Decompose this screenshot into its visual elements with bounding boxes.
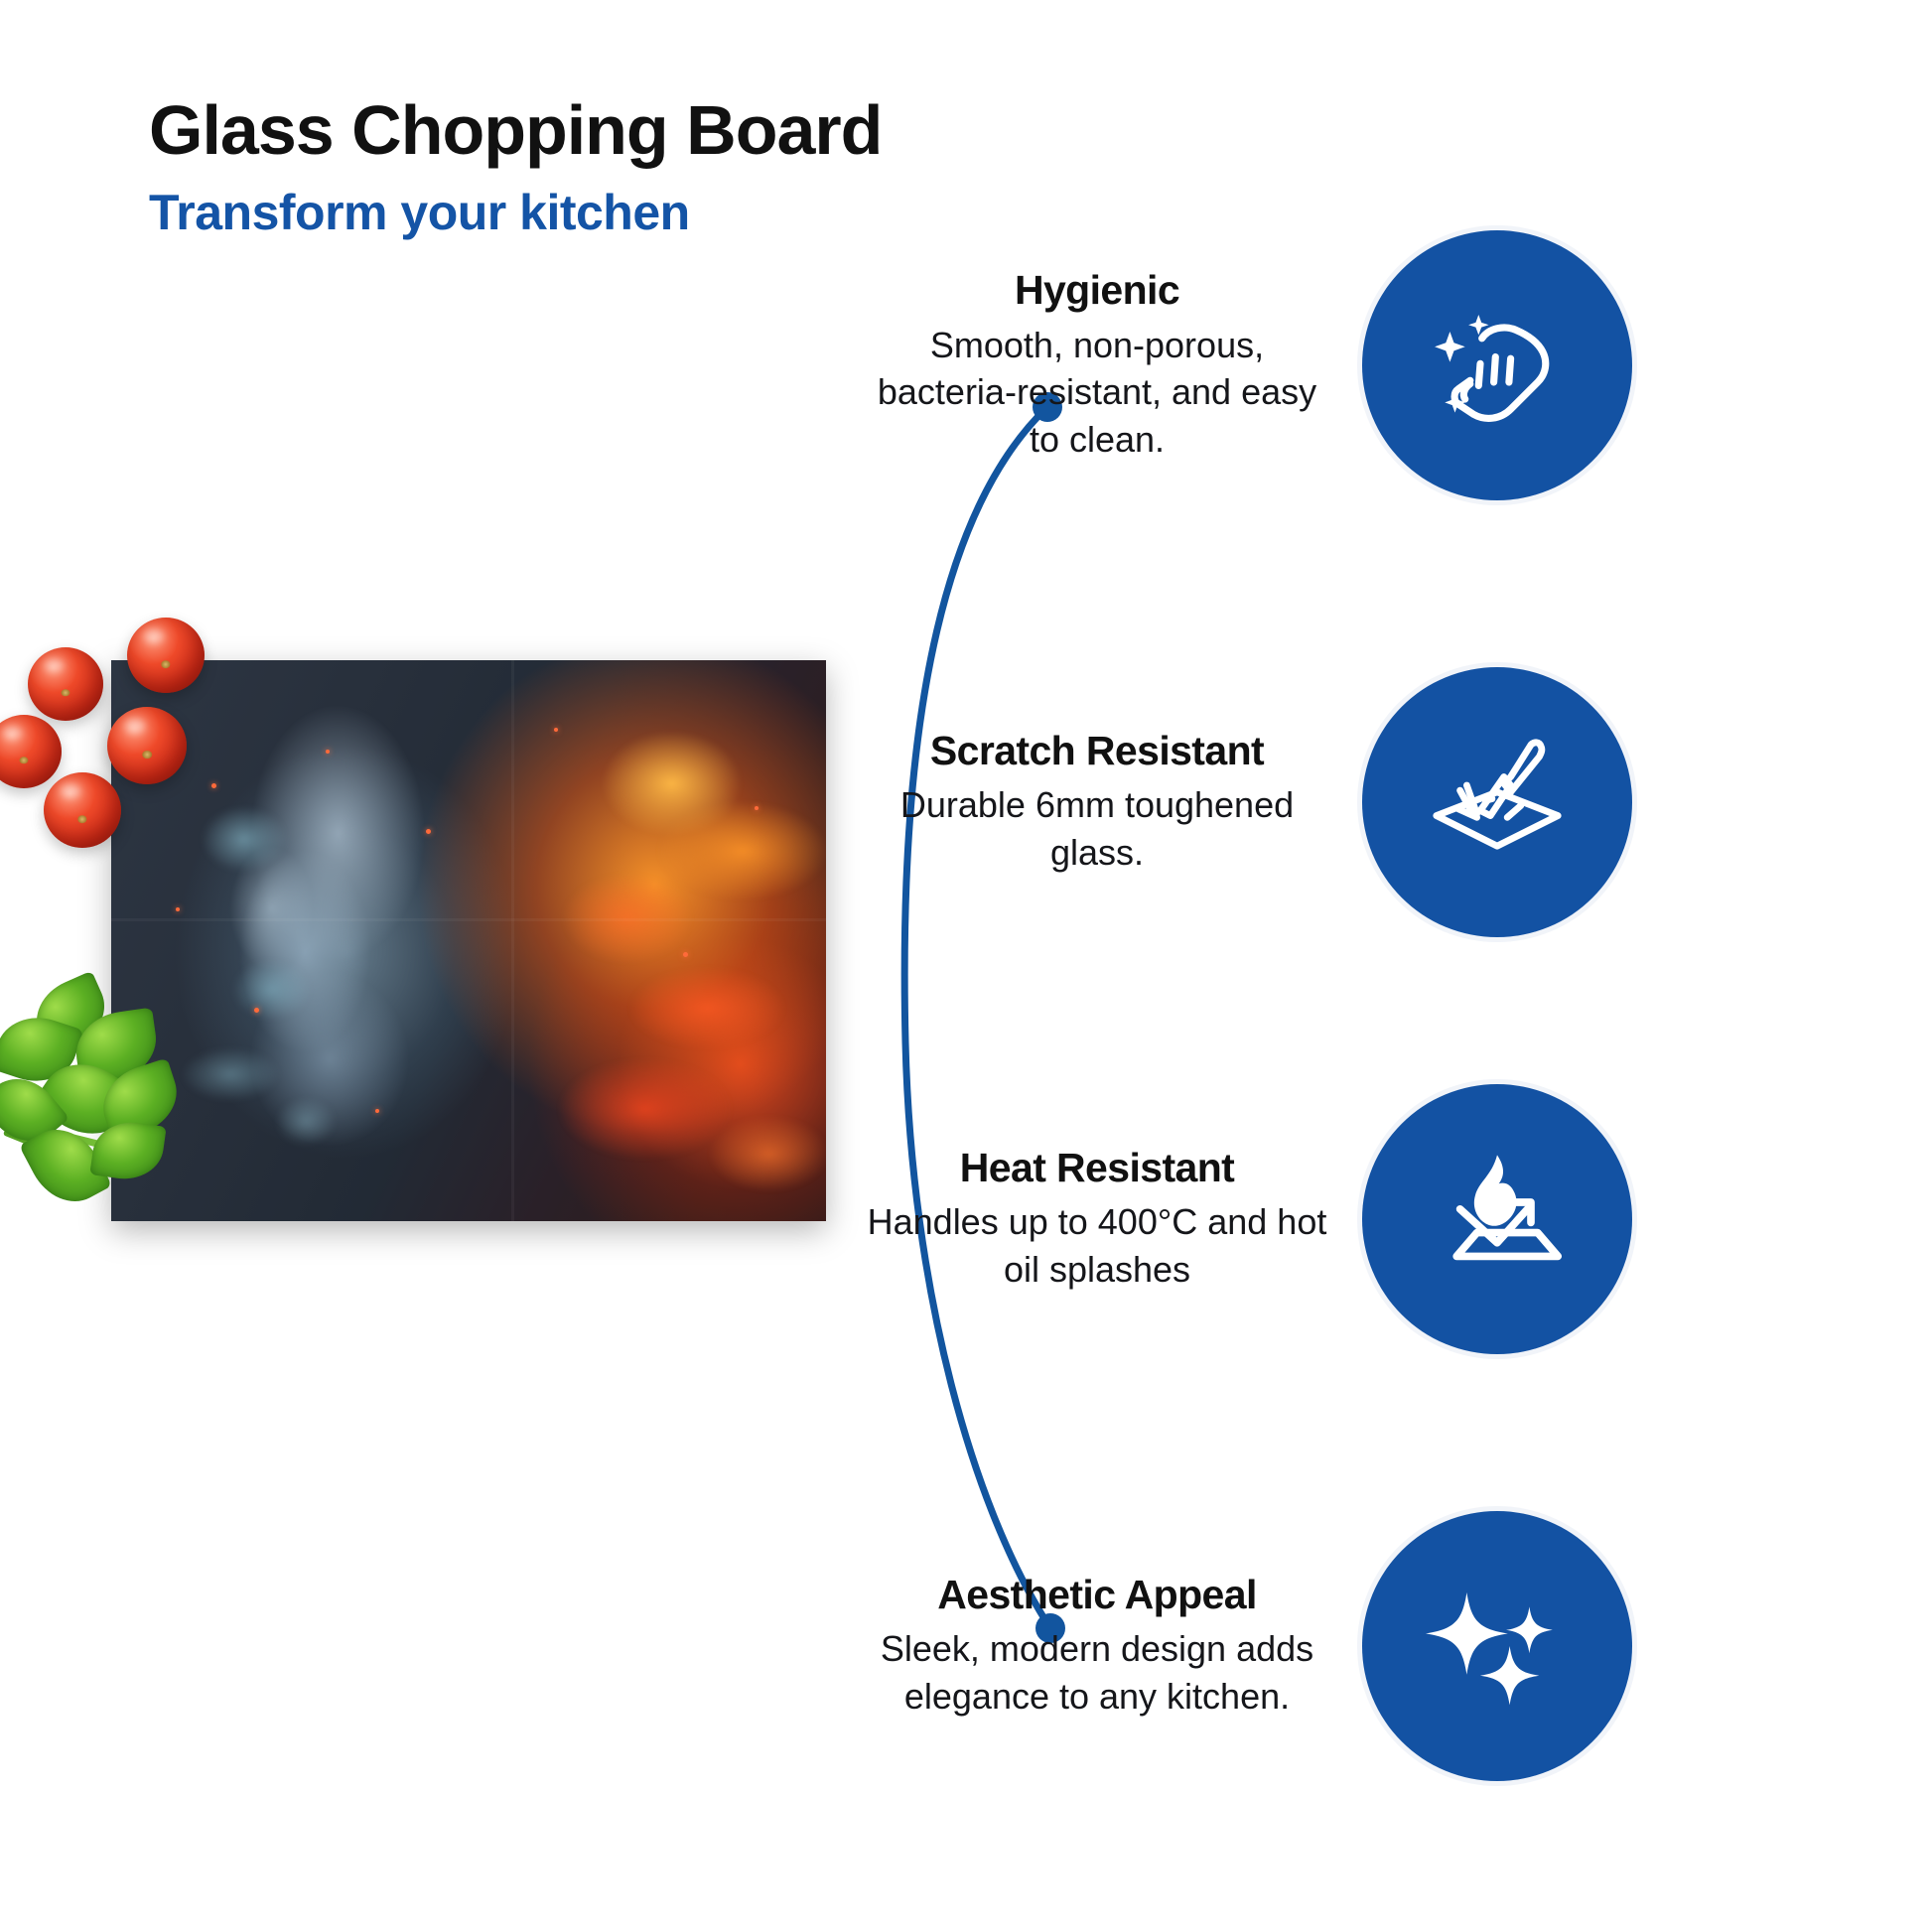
sparkles-icon [1362,1511,1632,1781]
feature-heat-resistant: Heat Resistant Handles up to 400°C and h… [864,1084,1632,1354]
parsley-garnish [0,973,238,1251]
infographic-canvas: Glass Chopping Board Transform your kitc… [0,0,1932,1932]
product-image-group [0,596,874,1291]
tomato-stem-nub [77,815,86,823]
feature-description: Sleek, modern design adds elegance to an… [864,1625,1330,1720]
tomato-stem-nub [61,689,69,696]
cherry-tomato [0,715,62,788]
board-seam-vertical [511,660,514,1221]
ember-speck [683,952,688,957]
ember-speck [426,829,431,834]
knife-on-surface-icon [1362,667,1632,937]
feature-description: Durable 6mm toughened glass. [864,781,1330,876]
feature-title: Scratch Resistant [864,729,1330,774]
feature-description: Handles up to 400°C and hot oil splashes [864,1198,1330,1293]
feature-text-block: Heat Resistant Handles up to 400°C and h… [864,1146,1330,1294]
feature-text-block: Hygienic Smooth, non-porous, bacteria-re… [864,268,1330,463]
flame-deflect-icon [1362,1084,1632,1354]
ember-speck [755,806,759,810]
feature-scratch-resistant: Scratch Resistant Durable 6mm toughened … [864,667,1632,937]
feature-hygienic: Hygienic Smooth, non-porous, bacteria-re… [864,230,1632,500]
ember-speck [176,907,180,911]
cherry-tomato [107,707,187,784]
feature-title: Aesthetic Appeal [864,1573,1330,1618]
page-title: Glass Chopping Board [149,94,1142,168]
feature-text-block: Aesthetic Appeal Sleek, modern design ad… [864,1573,1330,1721]
feature-description: Smooth, non-porous, bacteria-resistant, … [864,322,1330,464]
feature-title: Hygienic [864,268,1330,314]
feature-title: Heat Resistant [864,1146,1330,1191]
heading-block: Glass Chopping Board Transform your kitc… [149,94,1142,240]
tomato-stem-nub [19,757,28,763]
cherry-tomato [28,647,103,721]
board-artwork-flame [397,660,826,1221]
cherry-tomato [127,618,205,693]
feature-aesthetic-appeal: Aesthetic Appeal Sleek, modern design ad… [864,1511,1632,1781]
tomato-stem-nub [142,751,152,759]
hand-wipe-sparkle-icon [1362,230,1632,500]
tomato-stem-nub [161,660,170,668]
cherry-tomato [44,772,121,848]
feature-text-block: Scratch Resistant Durable 6mm toughened … [864,729,1330,877]
connector-path [904,407,1050,1628]
board-seam-horizontal [111,918,826,921]
